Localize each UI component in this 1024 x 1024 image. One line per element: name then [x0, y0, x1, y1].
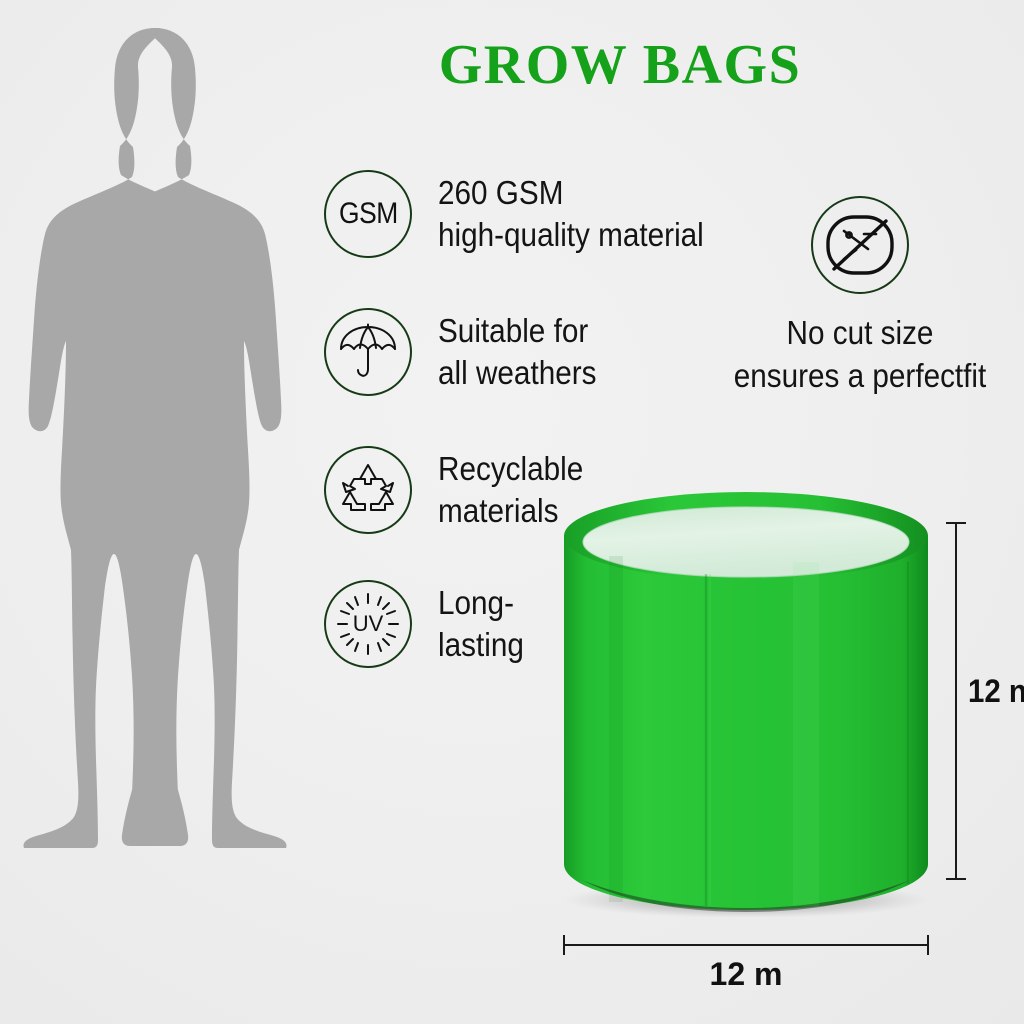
height-dimension-label: 12 n	[968, 673, 1024, 710]
width-dimension-line	[563, 944, 929, 946]
uv-icon-glyph: UV	[334, 590, 402, 658]
feature-label-uv: Long- lasting	[438, 582, 524, 666]
gsm-icon: GSM	[324, 170, 412, 258]
no-scissors-icon	[811, 196, 909, 294]
uv-icon: UV	[324, 580, 412, 668]
height-dimension-line	[955, 522, 957, 880]
feature-label-gsm: 260 GSM high-quality material	[438, 172, 704, 256]
grow-bag-product	[556, 492, 936, 917]
callout-text: No cut size ensures a perfectfit	[716, 312, 1004, 398]
recycle-icon	[324, 446, 412, 534]
feature-row-weather: Suitable for all weathers	[324, 308, 614, 396]
umbrella-icon-glyph	[337, 323, 399, 381]
no-scissors-icon-glyph	[824, 213, 896, 277]
feature-row-uv: UV Long- lasting	[324, 580, 533, 668]
width-dimension-label: 12 m	[563, 956, 929, 993]
infographic-canvas: GROW BAGS GSM 260 GSM high-quality mater…	[0, 0, 1024, 1024]
recycle-icon-glyph	[338, 462, 398, 518]
gsm-icon-label: GSM	[339, 197, 398, 231]
feature-label-weather: Suitable for all weathers	[438, 310, 596, 394]
svg-text:UV: UV	[353, 611, 384, 636]
feature-row-gsm: GSM 260 GSM high-quality material	[324, 170, 733, 258]
human-silhouette	[22, 20, 292, 850]
umbrella-icon	[324, 308, 412, 396]
callout-no-cut-size: No cut size ensures a perfectfit	[700, 196, 1020, 398]
page-title: GROW BAGS	[300, 33, 940, 97]
